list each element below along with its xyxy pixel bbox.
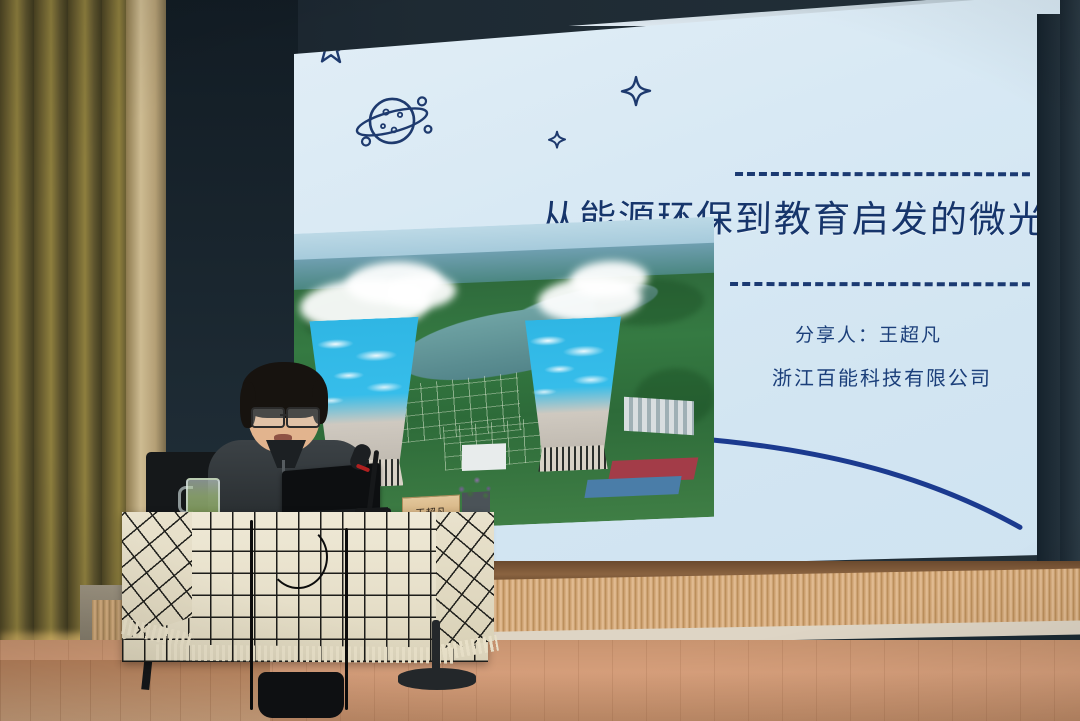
star-doodle-1 xyxy=(315,33,349,68)
mic-stand-base xyxy=(398,668,476,690)
photo-cooling-tower-right xyxy=(522,316,624,472)
photo-building-cluster xyxy=(624,397,694,435)
cable-right xyxy=(345,528,348,710)
tablecloth-fringe-front xyxy=(156,644,456,663)
cable-loop xyxy=(268,525,328,589)
stage-curtain xyxy=(0,0,132,672)
glasses-left-lens xyxy=(251,407,285,428)
slide-company-line: 浙江百能科技有限公司 xyxy=(772,362,993,391)
cable-left xyxy=(250,520,253,710)
right-wall-panel xyxy=(1060,0,1080,580)
tablecloth-right-drape xyxy=(436,512,494,652)
speaker-shoes xyxy=(258,672,344,718)
slide-presenter-line: 分享人：王超凡 xyxy=(795,320,943,347)
dashed-rule-bottom xyxy=(730,282,1030,286)
glasses-bridge xyxy=(280,414,288,416)
photo-building-white xyxy=(462,443,506,471)
presentation-scene-photo: 从能源环保到教育启发的微光之旅 分享人：王超凡 浙江百能科技有限公司 xyxy=(0,0,1080,721)
screen-surface: 从能源环保到教育启发的微光之旅 分享人：王超凡 浙江百能科技有限公司 xyxy=(290,0,1080,574)
slide-content: 从能源环保到教育启发的微光之旅 分享人：王超凡 浙江百能科技有限公司 xyxy=(290,0,1080,574)
swoosh-curve xyxy=(690,398,1080,556)
stage-floor-left xyxy=(0,660,270,721)
star-doodle-2 xyxy=(620,75,652,108)
star-doodle-3 xyxy=(548,130,566,148)
dashed-rule-top xyxy=(735,172,1030,176)
planet-doodle xyxy=(350,83,440,161)
flower-arrangement xyxy=(452,470,500,502)
projection-screen: 从能源环保到教育启发的微光之旅 分享人：王超凡 浙江百能科技有限公司 xyxy=(290,0,1080,574)
glasses-right-lens xyxy=(286,407,320,428)
